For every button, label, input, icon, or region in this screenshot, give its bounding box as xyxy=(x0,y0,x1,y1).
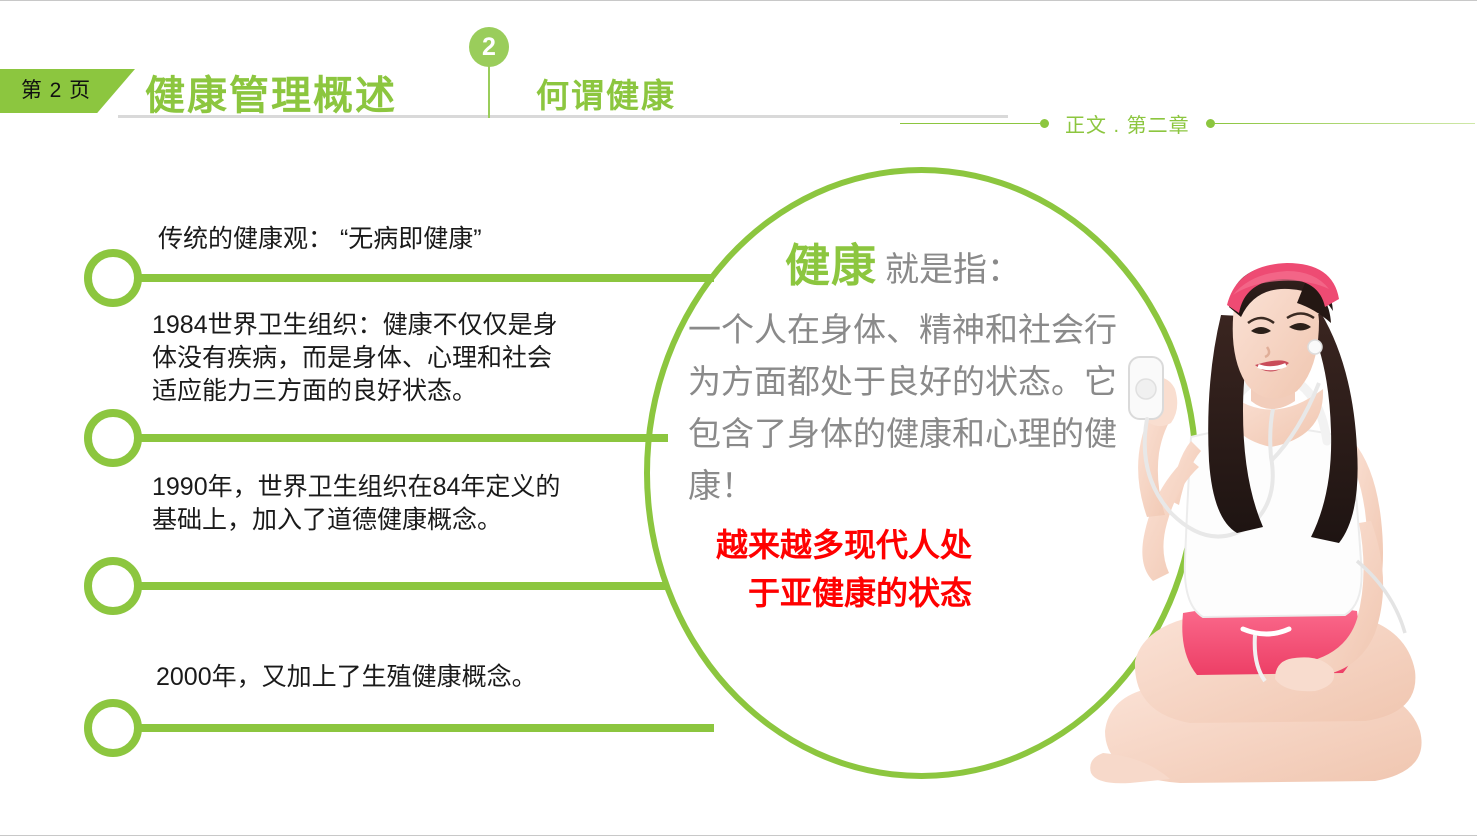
chapter-dot-right-icon xyxy=(1206,119,1215,128)
definition-lead: 就是指： xyxy=(885,251,1021,289)
chapter-caption: 正文 . 第二章 xyxy=(900,106,1475,140)
timeline-group: 传统的健康观： “无病即健康” 1984世界卫生组织：健康不仅仅是身 体没有疾病… xyxy=(0,1,720,836)
timeline-connector-4 xyxy=(140,724,714,732)
timeline-connector-1 xyxy=(140,274,714,282)
bullet-traditional-view: 传统的健康观： “无病即健康” xyxy=(158,223,688,256)
section-title: 何谓健康 xyxy=(536,69,676,117)
bullet-who-1984: 1984世界卫生组织：健康不仅仅是身 体没有疾病，而是身体、心理和社会 适应能力… xyxy=(152,309,672,408)
section-number-badge: 2 xyxy=(469,27,509,67)
woman-illustration-icon xyxy=(1075,261,1477,836)
timeline-connector-3 xyxy=(140,582,668,590)
definition-body: 一个人在身体、精神和社会行为方面都处于良好的状态。它包含了身体的健康和心理的健康… xyxy=(688,304,1118,513)
chapter-caption-label: 正文 . 第二章 xyxy=(1049,109,1206,138)
timeline-node-1[interactable] xyxy=(84,249,142,307)
page-title: 健康管理概述 xyxy=(145,63,397,121)
chapter-line-right xyxy=(1215,123,1475,124)
chapter-dot-left-icon xyxy=(1040,119,1049,128)
definition-keyword: 健康 xyxy=(785,240,877,291)
timeline-node-4[interactable] xyxy=(84,699,142,757)
definition-heading: 健康就是指： xyxy=(688,229,1118,294)
woman-photo xyxy=(1075,261,1477,836)
chapter-line-left xyxy=(900,123,1040,124)
definition-alert-line-2: 于亚健康的状态 xyxy=(688,569,1118,617)
timeline-node-3[interactable] xyxy=(84,557,142,615)
page-number-label: 第 2 页 xyxy=(0,69,112,113)
slide-canvas: 第 2 页 健康管理概述 2 何谓健康 正文 . 第二章 传统的健康观： “无病… xyxy=(0,0,1477,836)
bullet-who-1990: 1990年，世界卫生组织在84年定义的 基础上，加入了道德健康概念。 xyxy=(152,471,672,537)
definition-alert-line-1: 越来越多现代人处 xyxy=(688,521,1118,569)
definition-block: 健康就是指： 一个人在身体、精神和社会行为方面都处于良好的状态。它包含了身体的健… xyxy=(688,229,1118,617)
timeline-connector-2 xyxy=(140,434,668,442)
definition-alert: 越来越多现代人处 于亚健康的状态 xyxy=(688,521,1118,617)
timeline-node-2[interactable] xyxy=(84,409,142,467)
bullet-who-2000: 2000年，又加上了生殖健康概念。 xyxy=(156,661,676,694)
section-number-stem xyxy=(488,63,490,118)
